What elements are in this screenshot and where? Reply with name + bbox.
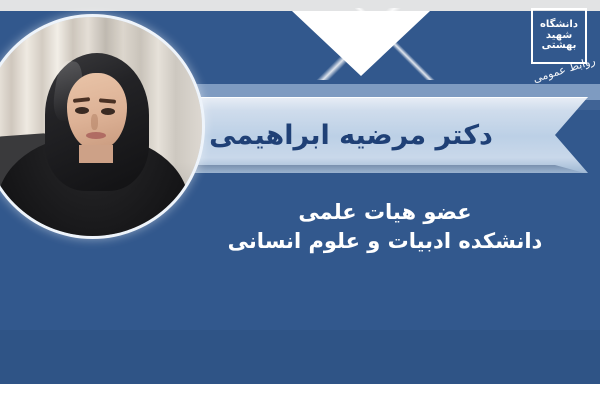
- subtitle-block: عضو هیات علمی دانشکده ادبیات و علوم انسا…: [190, 198, 580, 256]
- logo-line-beheshti: بهشتی: [542, 41, 577, 52]
- portrait-avatar: [0, 17, 202, 236]
- left-eye: [75, 107, 89, 114]
- neck-shape: [79, 145, 113, 163]
- lips: [86, 132, 106, 139]
- logo-square-text: دانشگاه شهید بهشتی: [533, 10, 585, 62]
- background-band-lower: [0, 330, 600, 384]
- nose: [91, 114, 98, 130]
- university-logo: دانشگاه شهید بهشتی روابط عمومی: [497, 6, 595, 90]
- right-eye: [101, 108, 115, 115]
- faculty-role: عضو هیات علمی: [190, 198, 580, 227]
- faculty-announcement-poster: دکتر مرضیه ابراهیمی عضو هیات علمی دانشکد…: [0, 0, 600, 400]
- faculty-department: دانشکده ادبیات و علوم انسانی: [190, 227, 580, 256]
- logo-square-frame: دانشگاه شهید بهشتی: [531, 8, 587, 64]
